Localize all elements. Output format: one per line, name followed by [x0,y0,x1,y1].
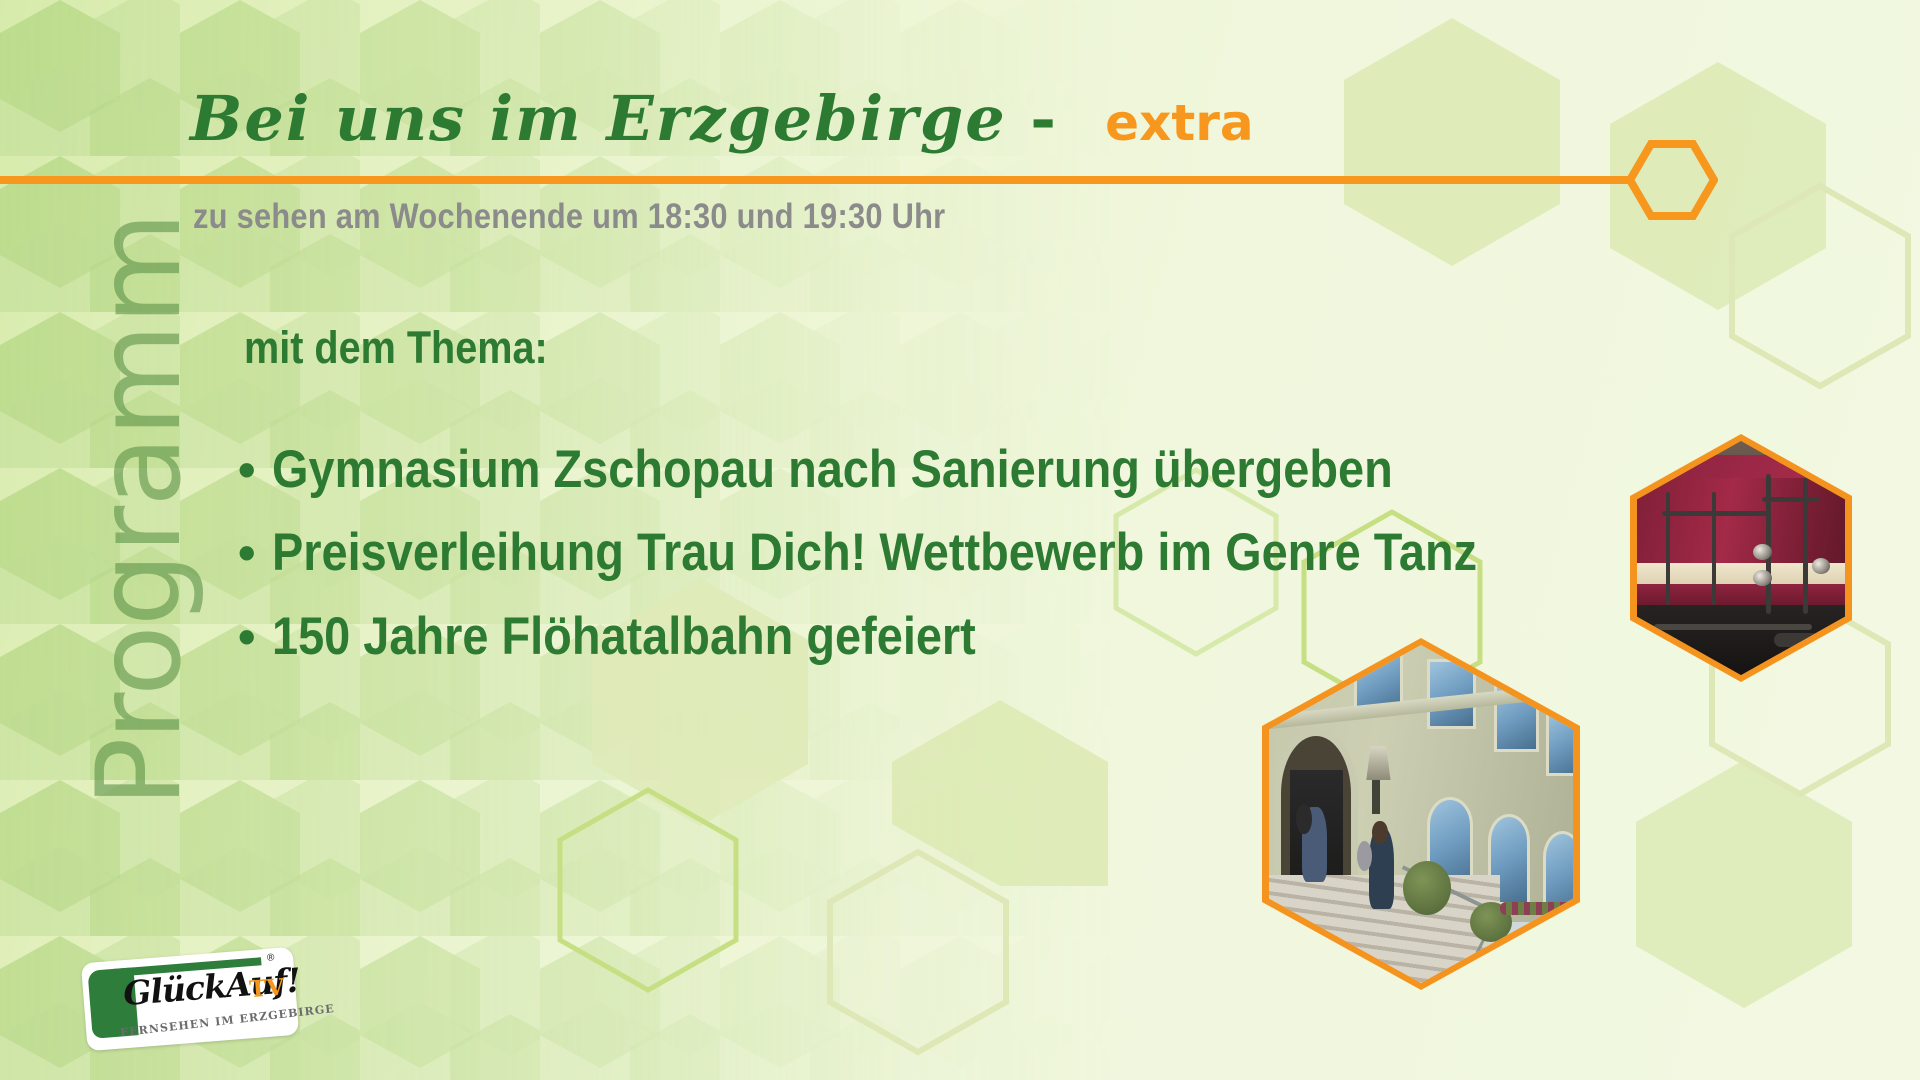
list-item: • Gymnasium Zschopau nach Sanierung über… [238,440,1633,499]
topic-text: Gymnasium Zschopau nach Sanierung überge… [272,440,1393,499]
orange-hexagon-icon [1626,140,1718,220]
train-photo [1630,434,1852,682]
topic-text: Preisverleihung Trau Dich! Wettbewerb im… [272,523,1477,582]
photo-clip [1269,645,1573,983]
broadcast-time-subtitle: zu sehen am Wochenende um 18:30 und 19:3… [193,197,945,237]
topic-text: 150 Jahre Flöhatalbahn gefeiert [272,607,976,666]
gymnasium-building-illustration [1269,645,1573,983]
bullet-marker-icon: • [238,442,256,498]
list-item: • Preisverleihung Trau Dich! Wettbewerb … [238,523,1633,582]
program-slide: Programm Bei uns im Erzgebirge - extra z… [0,0,1920,1080]
bullet-marker-icon: • [238,525,256,581]
bullet-marker-icon: • [238,609,256,665]
page-title-extra: extra [1105,94,1253,152]
logo-tv-label: TV [248,974,285,1004]
logo-registered-icon: ® [267,952,275,964]
glueckauf-tv-logo[interactable]: GlückAuf! TV ® FERNSEHEN IM ERZGEBIRGE [81,947,299,1051]
page-title: Bei uns im Erzgebirge - extra [190,88,1254,150]
school-building-photo [1262,638,1580,990]
page-title-dash: - [1030,82,1058,155]
page-title-script: Bei uns im Erzgebirge [190,82,1007,155]
topic-intro-label: mit dem Thema: [244,322,548,374]
header-divider-line [0,176,1634,184]
vertical-section-label: Programm [82,190,198,830]
